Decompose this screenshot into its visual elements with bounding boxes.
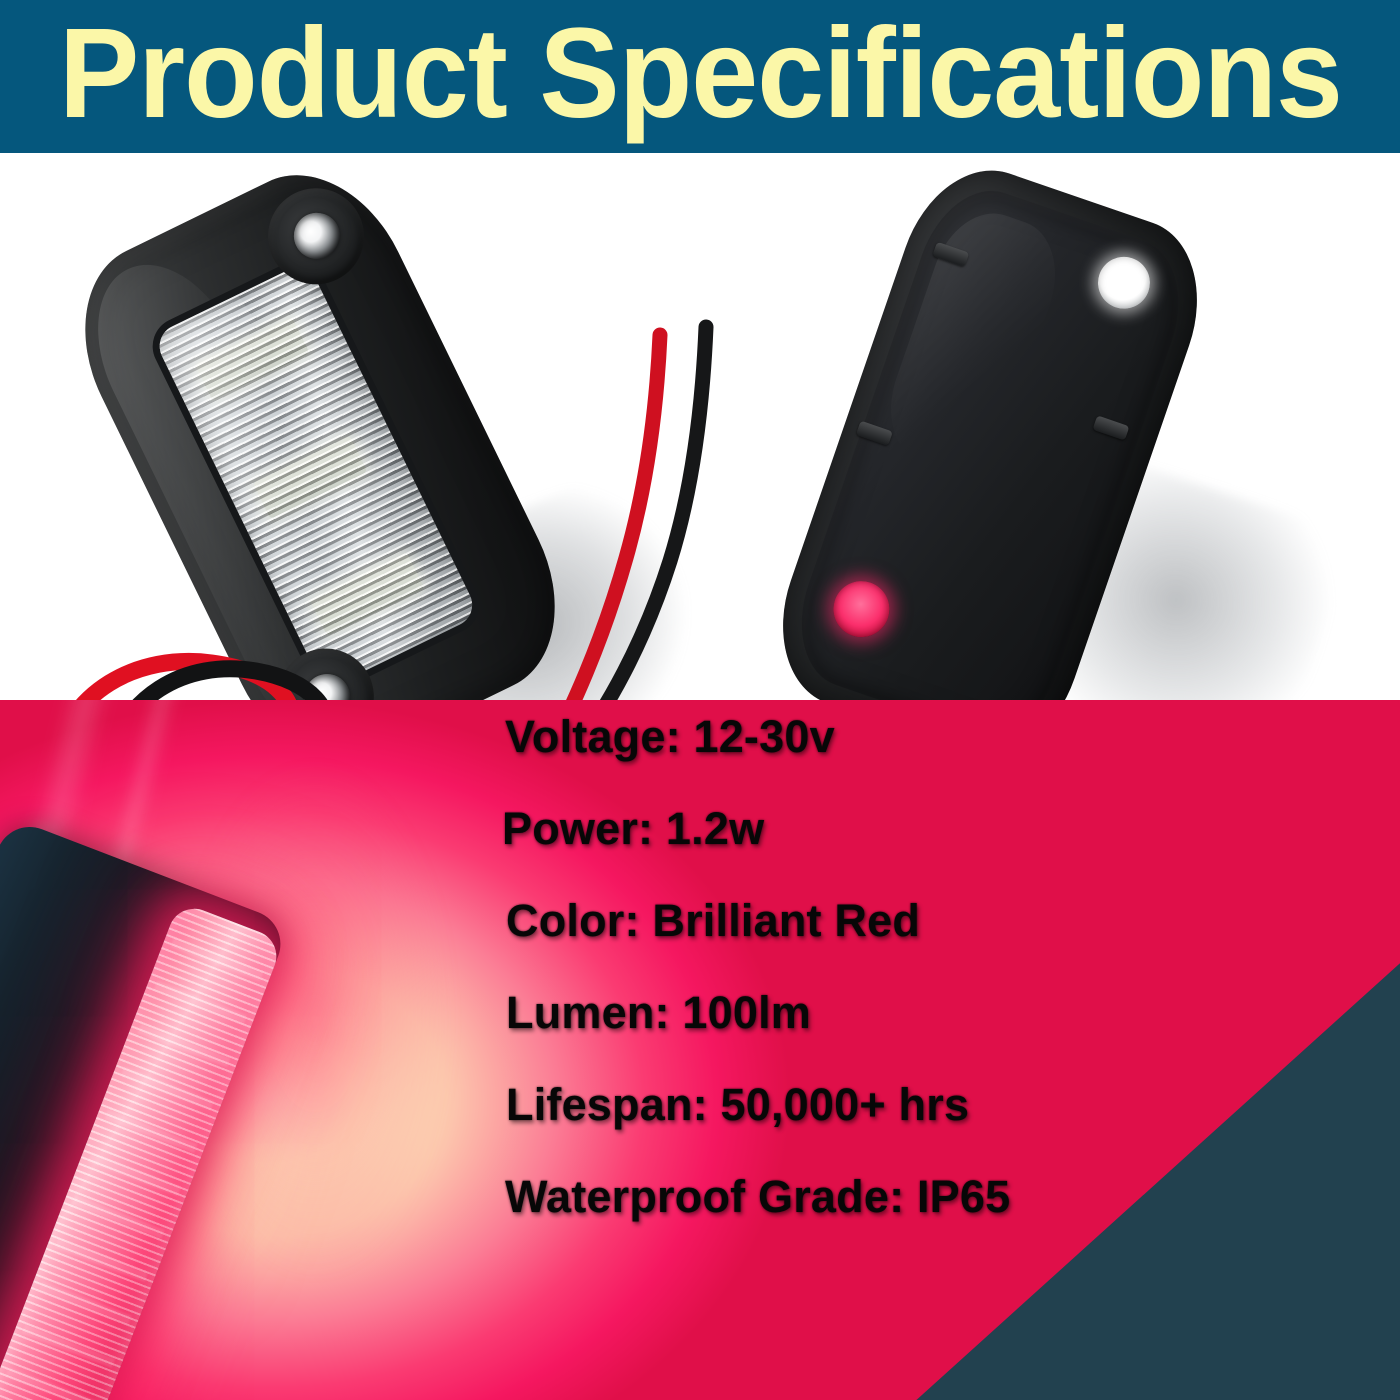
product-specifications-page: Product Specifications — [0, 0, 1400, 1400]
specification-panel: Voltage: 12-30v Power: 1.2w Color: Brill… — [0, 700, 1400, 1400]
header-band: Product Specifications — [0, 0, 1400, 153]
page-title: Product Specifications — [58, 10, 1341, 138]
spec-item-lifespan: Lifespan: 50,000+ hrs — [506, 1082, 1360, 1127]
specification-list: Voltage: 12-30v Power: 1.2w Color: Brill… — [500, 714, 1360, 1219]
product-photo-area — [0, 153, 1400, 700]
spec-item-voltage: Voltage: 12-30v — [505, 714, 1360, 759]
spec-item-lumen: Lumen: 100lm — [506, 990, 1360, 1035]
spec-item-power: Power: 1.2w — [502, 806, 1360, 851]
red-wire-icon — [548, 335, 660, 753]
black-wire-icon — [574, 327, 706, 751]
spec-item-waterproof-grade: Waterproof Grade: IP65 — [505, 1174, 1360, 1219]
spec-item-color: Color: Brilliant Red — [506, 898, 1360, 943]
